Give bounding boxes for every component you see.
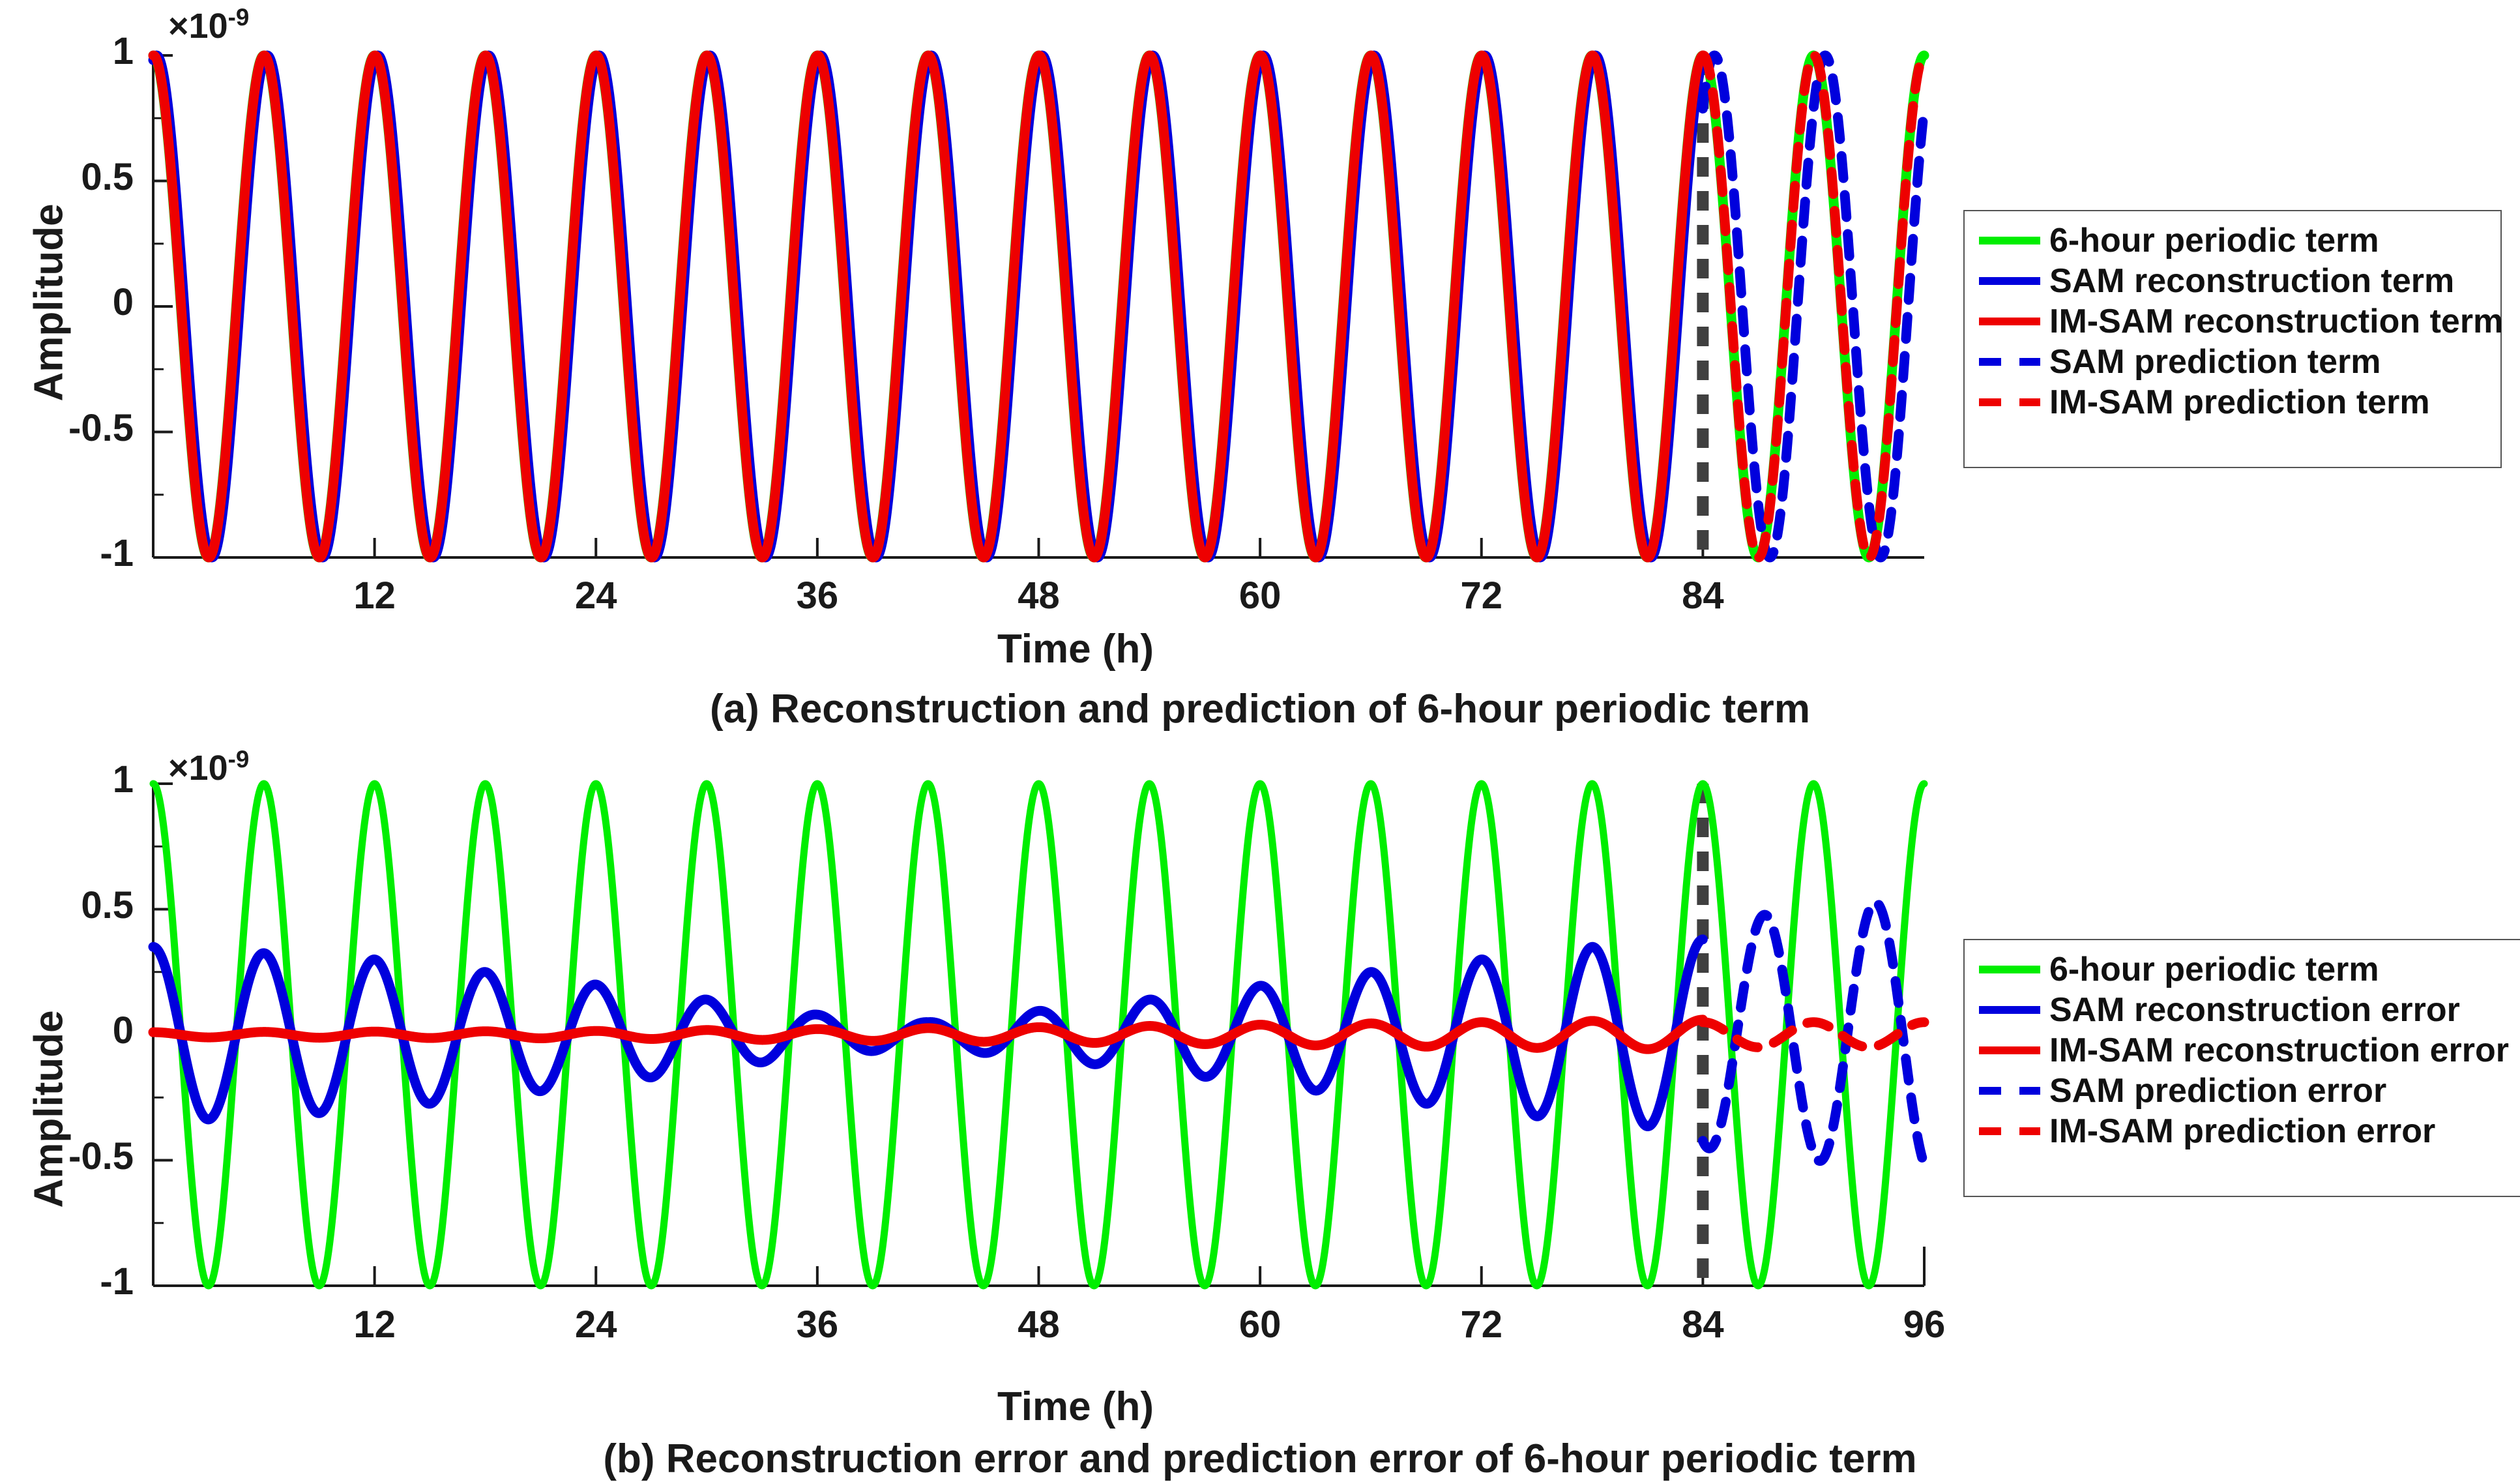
legend-swatch-dashed-icon — [1975, 342, 2045, 382]
panel-b-legend: 6-hour periodic term SAM reconstruction … — [1963, 939, 2520, 1197]
legend-swatch-line-icon — [1975, 1030, 2045, 1071]
legend-swatch-dashed-icon — [1975, 382, 2045, 422]
legend-swatch-line-icon — [1975, 949, 2045, 990]
y-tick-label: 0 — [3, 1009, 134, 1052]
panel-a-legend: 6-hour periodic term SAM reconstruction … — [1963, 210, 2502, 468]
legend-label: 6-hour periodic term — [2049, 224, 2379, 258]
legend-swatch-dashed-icon — [1975, 1111, 2045, 1151]
legend-label: SAM prediction error — [2049, 1074, 2386, 1108]
legend-item[interactable]: SAM reconstruction term — [1975, 261, 2489, 301]
legend-swatch-line-icon — [1975, 220, 2045, 261]
legend-label: SAM reconstruction error — [2049, 993, 2460, 1027]
legend-item[interactable]: SAM prediction error — [1975, 1071, 2517, 1111]
x-tick-label: 12 — [310, 574, 440, 617]
panel-a-x-axis-label: Time (h) — [939, 626, 1212, 672]
legend-item[interactable]: SAM prediction term — [1975, 342, 2489, 382]
y-tick-label: -1 — [3, 1260, 134, 1303]
x-tick-label: 84 — [1637, 1303, 1768, 1346]
legend-label: SAM reconstruction term — [2049, 264, 2454, 298]
legend-label: IM-SAM reconstruction term — [2049, 304, 2503, 338]
panel-b: ×10-9 Amplitude Time (h) (b) Reconstruct… — [0, 730, 2520, 1468]
legend-label: 6-hour periodic term — [2049, 953, 2379, 986]
panel-a-exponent: ×10-9 — [168, 4, 249, 46]
x-tick-label: 48 — [974, 574, 1104, 617]
legend-item[interactable]: 6-hour periodic term — [1975, 949, 2517, 990]
x-tick-label: 12 — [310, 1303, 440, 1346]
legend-swatch-line-icon — [1975, 990, 2045, 1030]
legend-item[interactable]: SAM reconstruction error — [1975, 990, 2517, 1030]
legend-swatch-line-icon — [1975, 261, 2045, 301]
series-sam-prediction-term — [1703, 55, 1924, 557]
x-tick-label: 96 — [1859, 1303, 1989, 1346]
panel-a: ×10-9 Amplitude Time (h) (a) Reconstruct… — [0, 0, 2520, 737]
y-tick-label: 1 — [3, 758, 134, 801]
panel-b-caption: (b) Reconstruction error and prediction … — [0, 1436, 2520, 1482]
y-tick-label: 0 — [3, 280, 134, 324]
y-tick-label: 0.5 — [3, 883, 134, 927]
legend-item[interactable]: IM-SAM reconstruction term — [1975, 301, 2489, 342]
figure-root: ×10-9 Amplitude Time (h) (a) Reconstruct… — [0, 0, 2520, 1468]
x-tick-label: 84 — [1637, 574, 1768, 617]
y-tick-label: -1 — [3, 531, 134, 575]
y-tick-label: 1 — [3, 29, 134, 73]
x-tick-label: 72 — [1416, 1303, 1547, 1346]
legend-label: IM-SAM reconstruction error — [2049, 1033, 2509, 1067]
x-tick-label: 24 — [531, 574, 661, 617]
legend-swatch-line-icon — [1975, 301, 2045, 342]
x-tick-label: 60 — [1195, 1303, 1325, 1346]
legend-item[interactable]: 6-hour periodic term — [1975, 220, 2489, 261]
legend-label: SAM prediction term — [2049, 345, 2381, 379]
y-tick-label: -0.5 — [3, 1134, 134, 1178]
legend-label: IM-SAM prediction term — [2049, 385, 2430, 419]
x-tick-label: 72 — [1416, 574, 1547, 617]
legend-swatch-dashed-icon — [1975, 1071, 2045, 1111]
legend-item[interactable]: IM-SAM prediction term — [1975, 382, 2489, 422]
x-tick-label: 48 — [974, 1303, 1104, 1346]
legend-item[interactable]: IM-SAM prediction error — [1975, 1111, 2517, 1151]
series-im-sam-reconstruction-error — [153, 1020, 1703, 1049]
x-tick-label: 24 — [531, 1303, 661, 1346]
x-tick-label: 60 — [1195, 574, 1325, 617]
x-tick-label: 36 — [752, 1303, 883, 1346]
panel-b-x-axis-label: Time (h) — [939, 1384, 1212, 1430]
x-tick-label: 36 — [752, 574, 883, 617]
legend-item[interactable]: IM-SAM reconstruction error — [1975, 1030, 2517, 1071]
panel-a-caption: (a) Reconstruction and prediction of 6-h… — [0, 686, 2520, 732]
y-tick-label: 0.5 — [3, 155, 134, 199]
series-im-sam-reconstruction-term — [153, 55, 1703, 557]
panel-b-exponent: ×10-9 — [168, 746, 249, 788]
legend-label: IM-SAM prediction error — [2049, 1114, 2435, 1148]
y-tick-label: -0.5 — [3, 406, 134, 450]
